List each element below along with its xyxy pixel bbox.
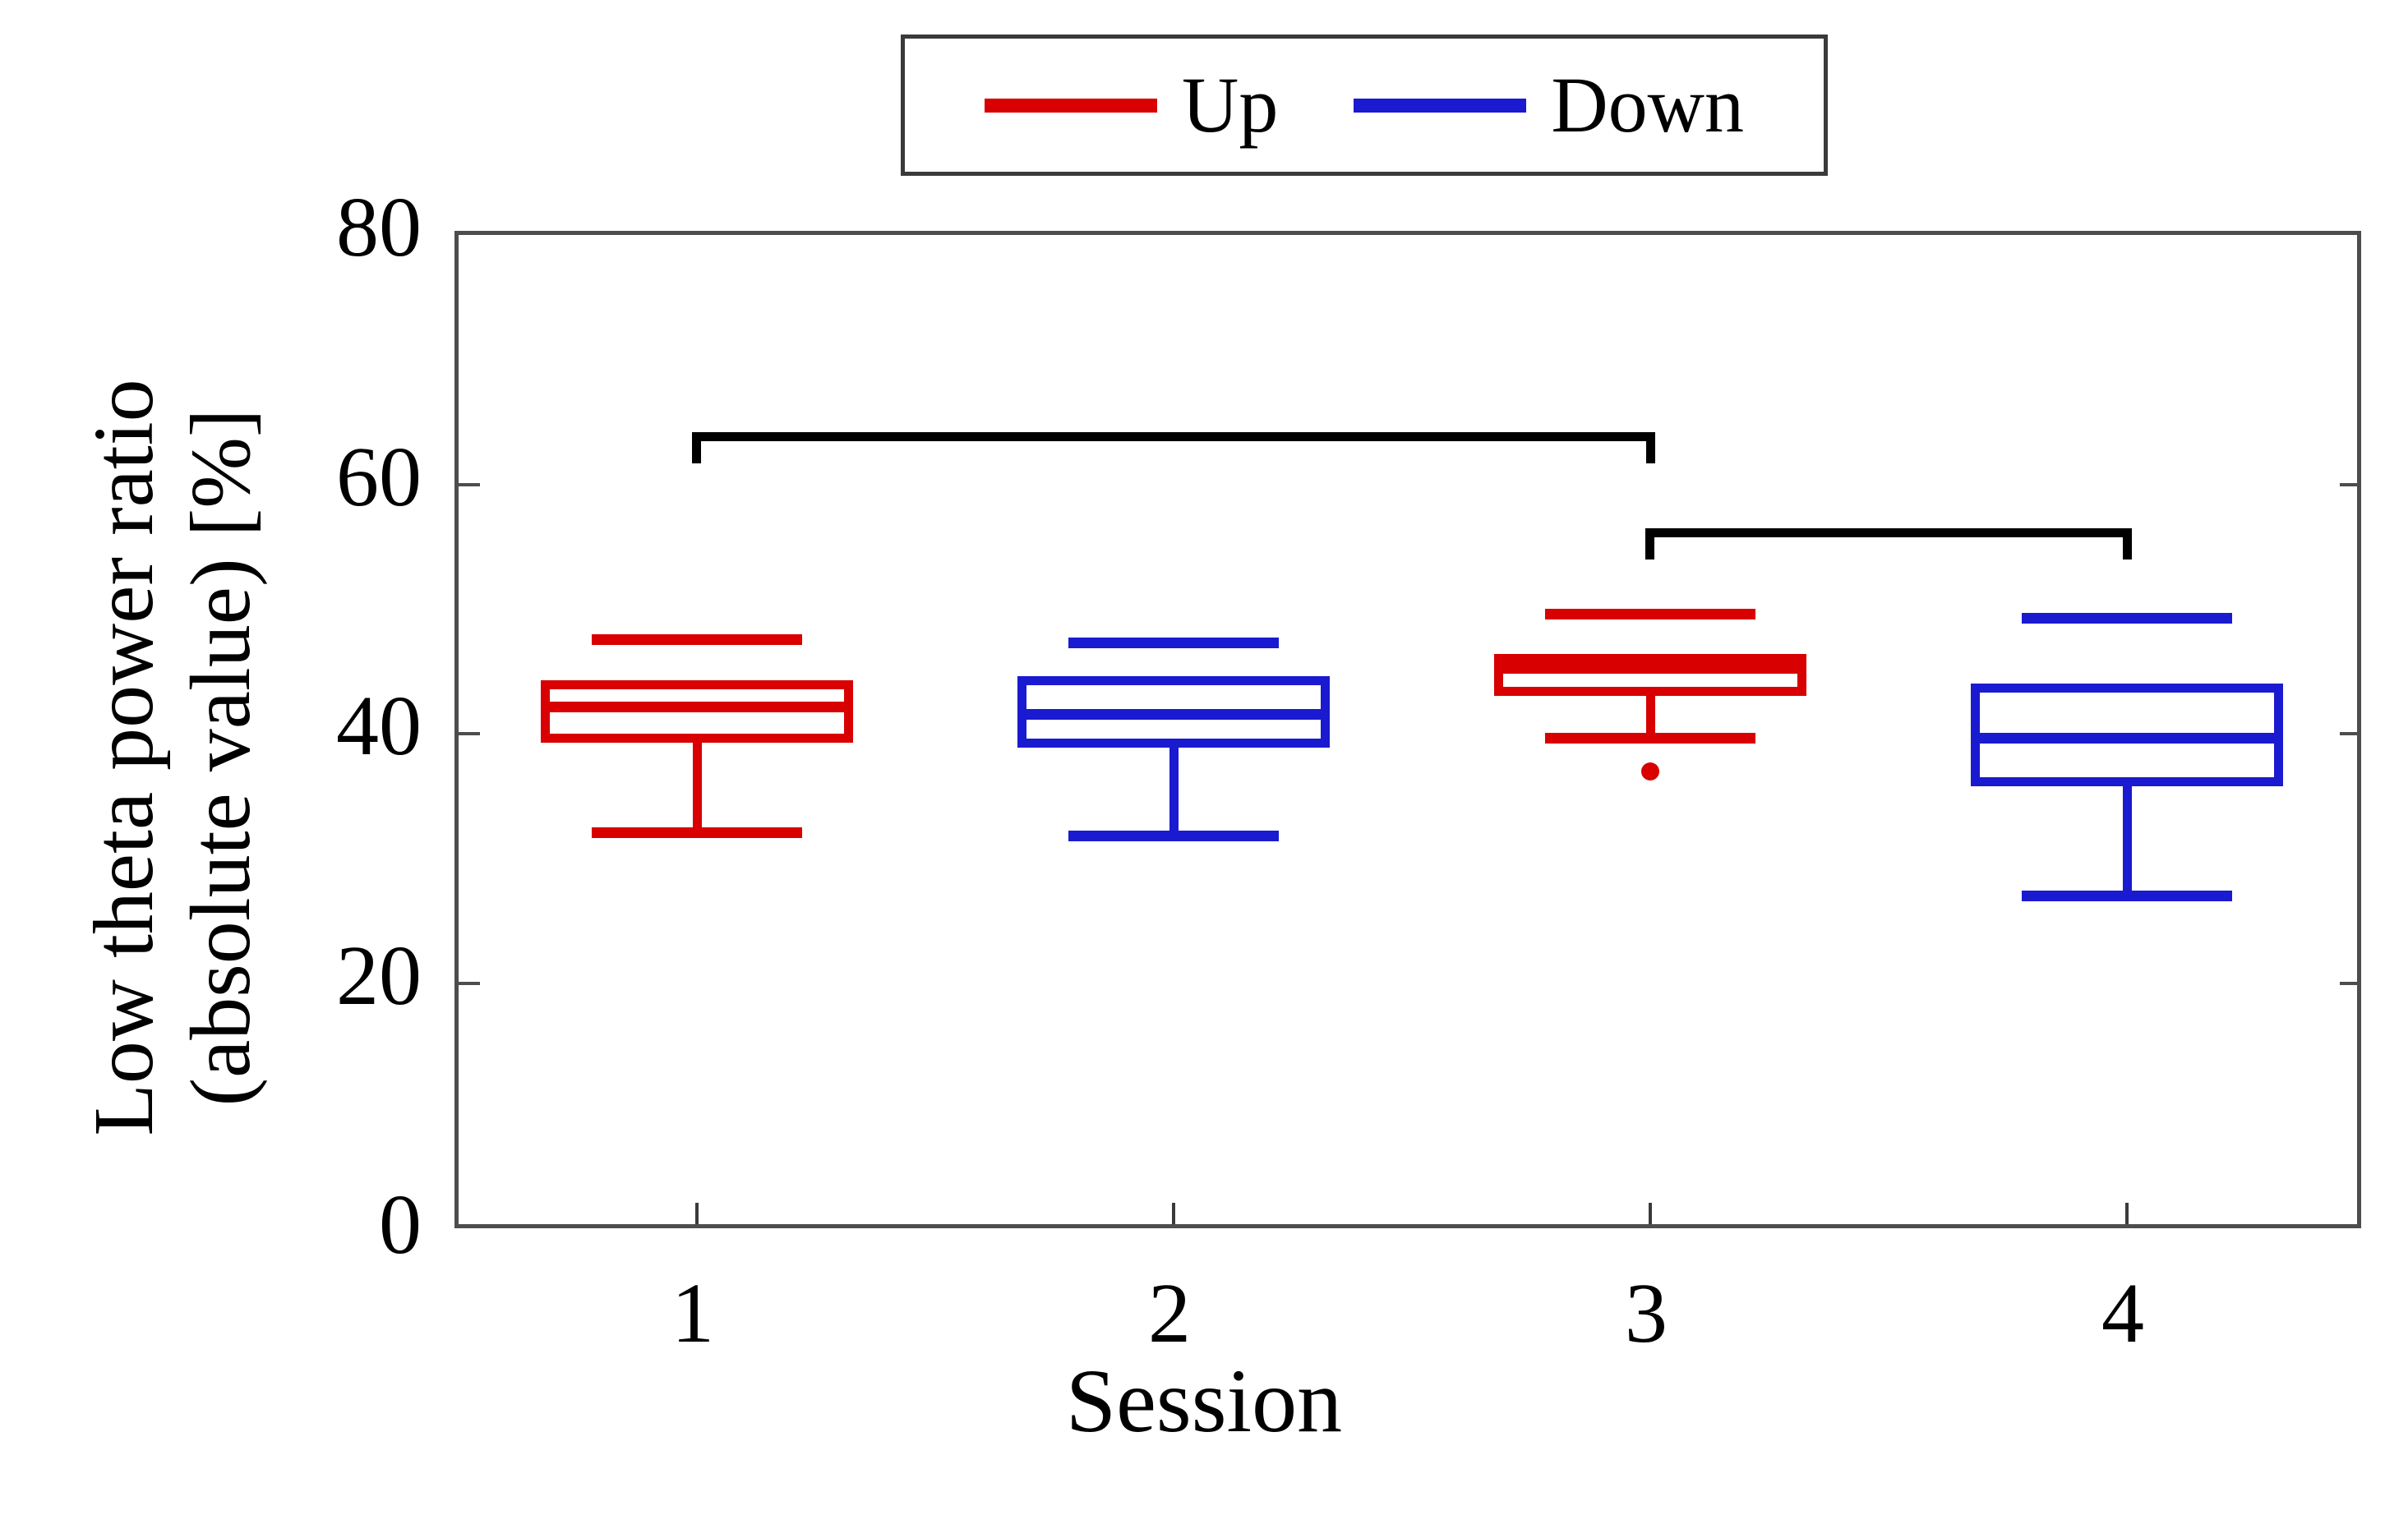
cap-lower [2022,891,2232,901]
whisker-lower [1169,748,1179,836]
cap-upper [2022,613,2232,624]
box-iqr [1494,654,1806,697]
bracket-session-1-to-3 [692,432,1655,463]
y-tick-label-20: 20 [175,933,422,1019]
y-tick-label-40: 40 [175,684,422,769]
chart-legend: Up Down [901,35,1828,176]
whisker-lower [2123,786,2132,896]
x-tick-label-3: 3 [1523,1271,1769,1356]
x-tick-label-4: 4 [2000,1271,2246,1356]
legend-label-down: Down [1551,66,1744,145]
cap-lower [1068,831,1279,841]
bracket-session-3-to-4 [1645,528,2132,559]
x-tick-label-2: 2 [1046,1271,1293,1356]
median-line [1494,663,1806,674]
y-tick-60 [459,483,480,486]
y-tick-right-20 [2340,982,2361,985]
x-axis-title: Session [0,1356,2408,1446]
legend-label-up: Up [1182,66,1278,145]
y-tick-40 [459,732,480,735]
median-line [1971,733,2283,744]
median-line [541,702,853,712]
cap-upper [1545,609,1755,619]
cap-upper [1068,638,1279,648]
x-tick-1 [695,1203,699,1224]
cap-upper [592,634,802,645]
legend-swatch-up [985,99,1157,113]
y-tick-right-60 [2340,483,2361,486]
legend-entry-down: Down [1354,66,1744,145]
legend-swatch-down [1354,99,1526,113]
figure-root: Up Down Low theta power ratio (absolute … [0,0,2408,1515]
y-tick-right-40 [2340,732,2361,735]
legend-entry-up: Up [985,66,1278,145]
whisker-lower [1646,696,1655,737]
y-tick-label-80: 80 [175,185,422,270]
y-tick-20 [459,982,480,985]
whisker-lower [693,743,702,832]
y-tick-label-60: 60 [175,435,422,520]
x-tick-2 [1172,1203,1175,1224]
x-tick-label-1: 1 [570,1271,816,1356]
plot-area [454,231,2361,1228]
x-tick-4 [2125,1203,2129,1224]
outlier-point [1641,762,1659,781]
x-tick-3 [1649,1203,1652,1224]
y-tick-label-0: 0 [175,1182,422,1268]
median-line [1017,709,1330,720]
cap-lower [592,827,802,838]
y-axis-title-line1: Low theta power ratio [76,223,173,1292]
cap-lower [1545,733,1755,744]
